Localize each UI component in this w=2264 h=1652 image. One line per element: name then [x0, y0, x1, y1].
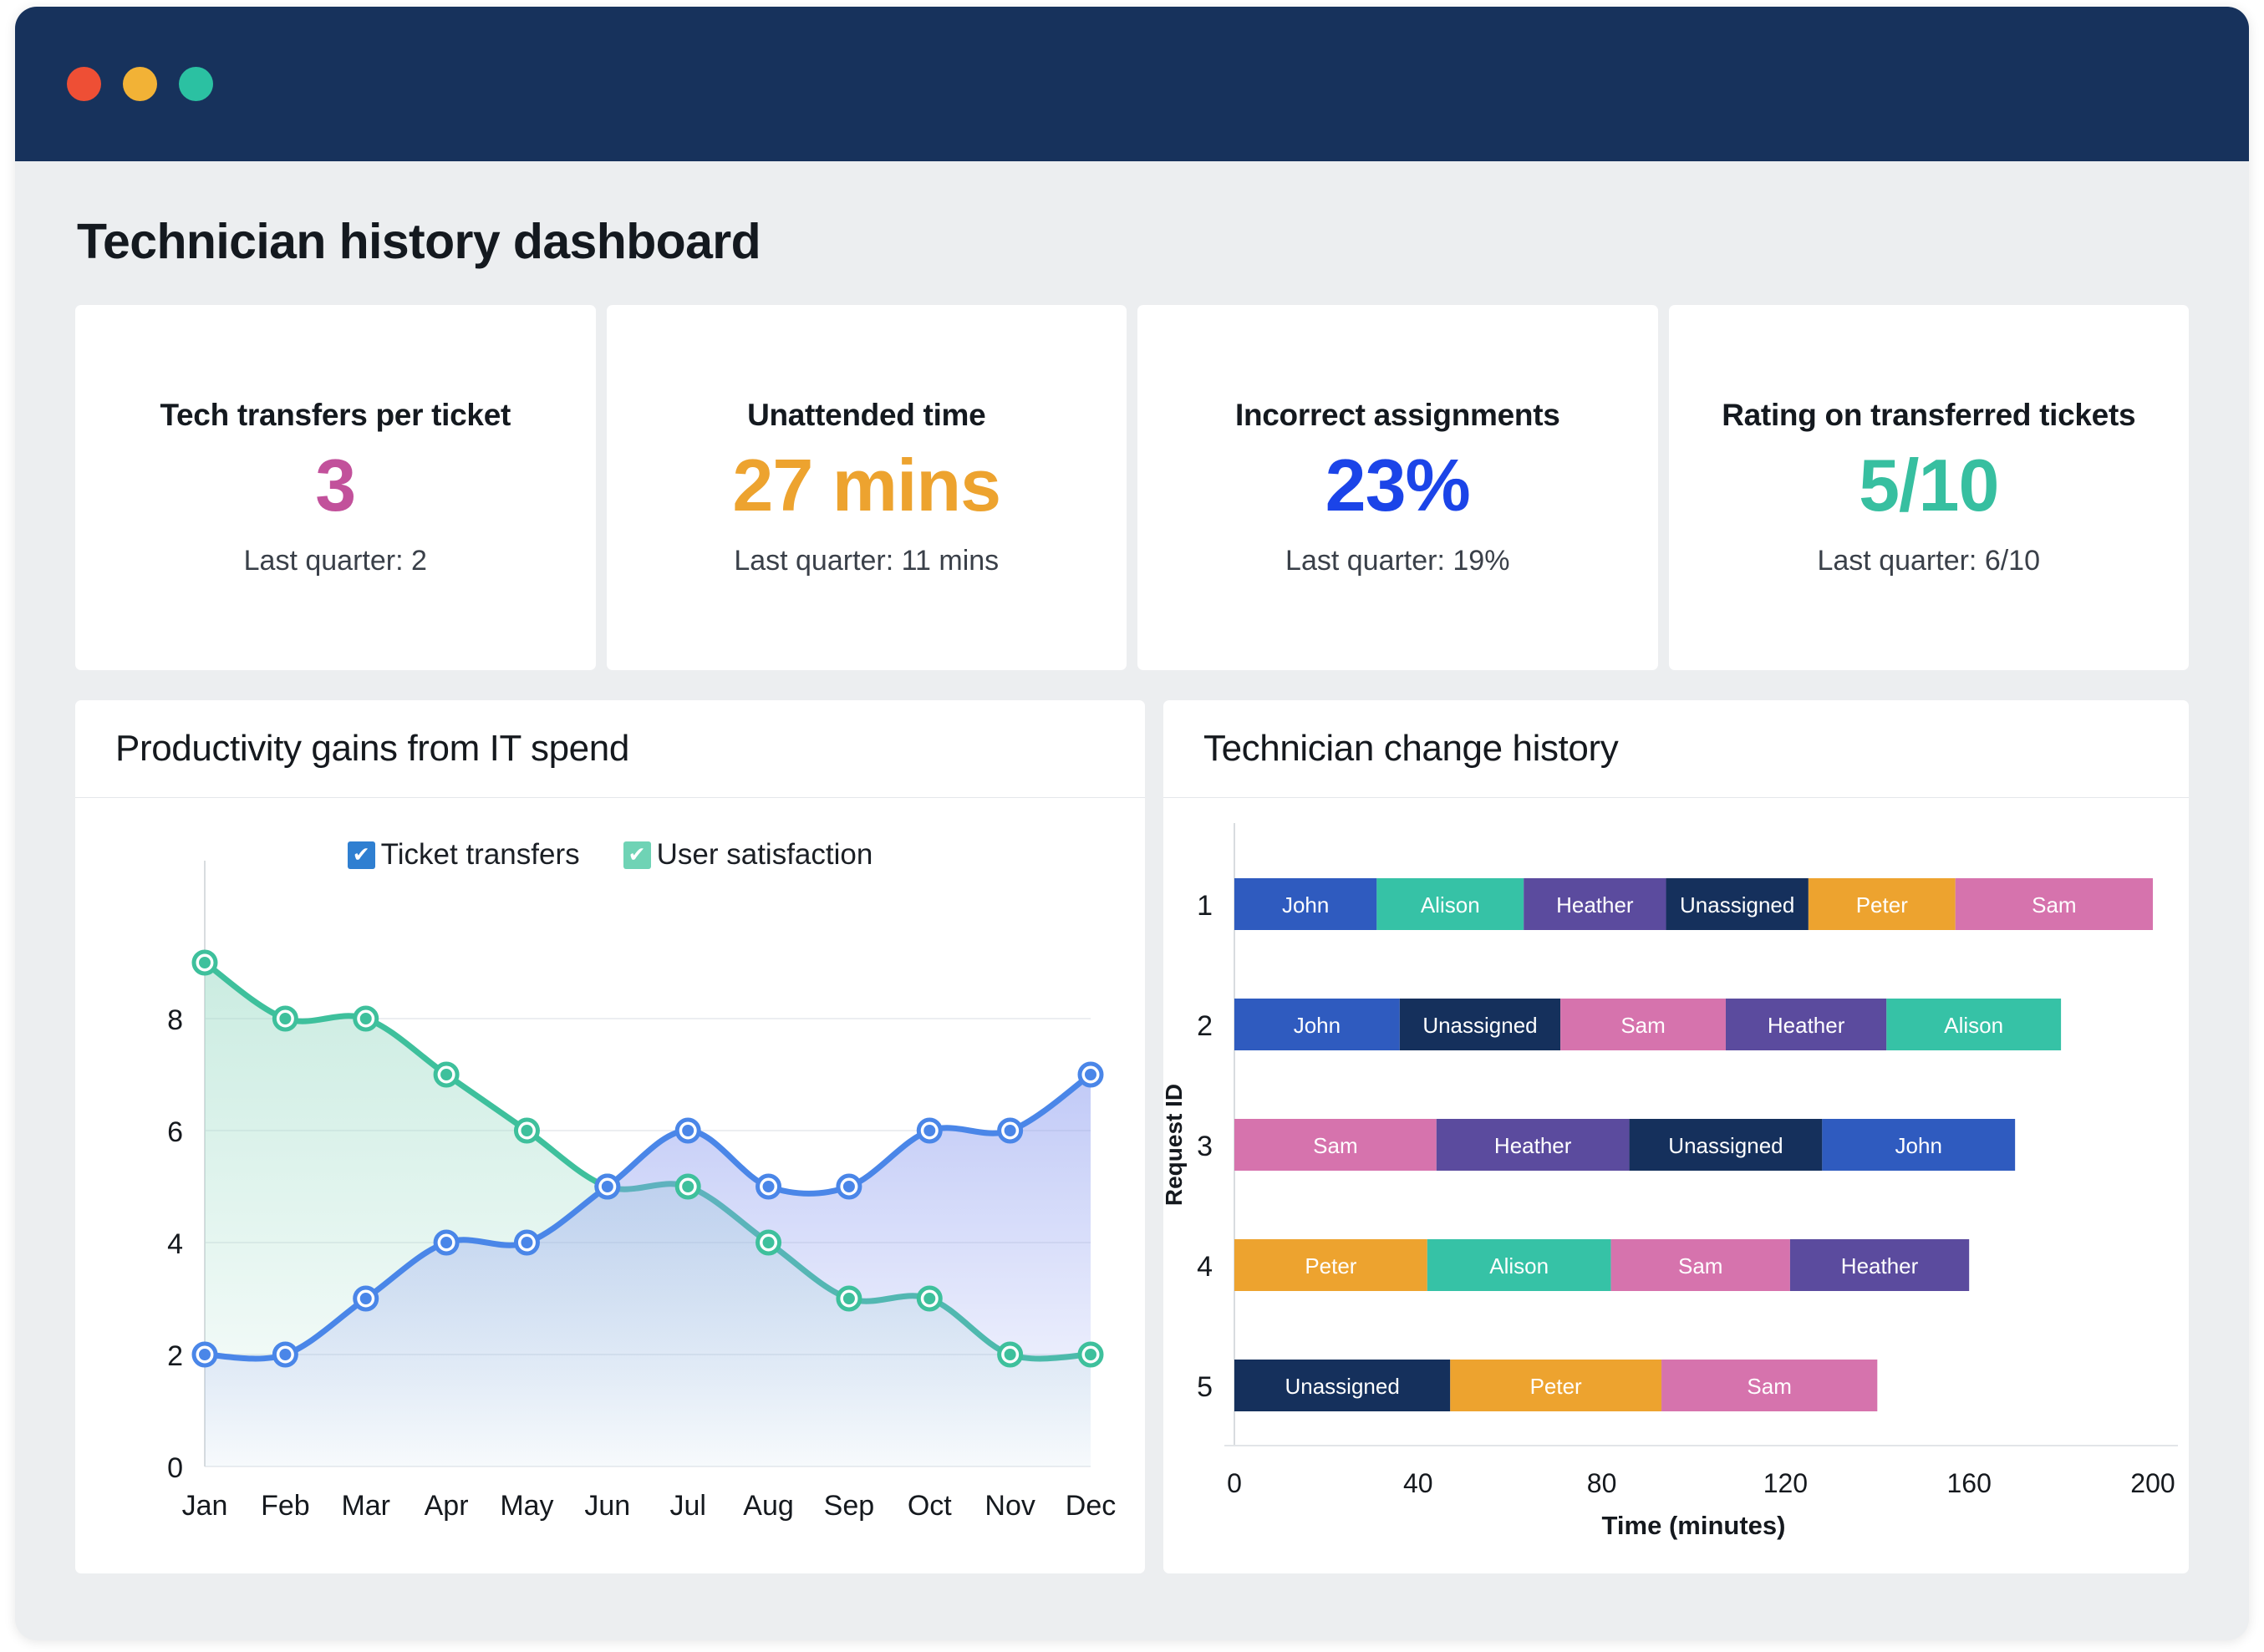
data-point-core [843, 1181, 855, 1192]
gantt-segment-label: John [1294, 1013, 1341, 1038]
data-point-core [521, 1237, 532, 1248]
dashboard-content: Technician history dashboard Tech transf… [15, 161, 2249, 1573]
x-axis-title: Time (minutes) [1602, 1511, 1786, 1540]
maximize-window-button[interactable] [179, 67, 213, 101]
x-axis-tick-label: Jul [669, 1490, 705, 1522]
x-axis-tick-label: Mar [341, 1490, 390, 1522]
kpi-value: 27 mins [732, 445, 1000, 527]
y-axis-tick-label: 5 [1197, 1371, 1213, 1403]
gantt-chart: 1JohnAlisonHeatherUnassignedPeterSam2Joh… [1163, 798, 2189, 1573]
chart-panel-row: Productivity gains from IT spend ✔ Ticke… [75, 700, 2189, 1573]
kpi-subtext: Last quarter: 19% [1285, 545, 1509, 577]
x-axis-tick-label: Dec [1066, 1490, 1116, 1522]
data-point-core [440, 1237, 452, 1248]
x-axis-tick-label: Apr [425, 1490, 469, 1522]
kpi-card-tech-transfers[interactable]: Tech transfers per ticket 3 Last quarter… [75, 305, 596, 670]
data-point-core [923, 1125, 935, 1136]
data-point-core [199, 1349, 211, 1360]
kpi-card-row: Tech transfers per ticket 3 Last quarter… [75, 305, 2189, 670]
x-axis-tick-label: Jun [584, 1490, 630, 1522]
data-point-core [199, 957, 211, 968]
gantt-segment-label: Sam [1747, 1374, 1791, 1399]
y-axis-tick-label: 4 [1197, 1251, 1213, 1283]
x-axis-tick-label: 0 [1227, 1468, 1242, 1498]
data-point-core [1005, 1125, 1016, 1136]
gantt-segment-label: John [1895, 1133, 1942, 1158]
data-point-core [279, 1013, 291, 1024]
panel-header: Technician change history [1163, 700, 2189, 798]
x-axis-tick-label: Feb [261, 1490, 310, 1522]
y-axis-tick-label: 6 [167, 1116, 183, 1148]
kpi-value: 23% [1325, 445, 1470, 527]
x-axis-tick-label: Aug [743, 1490, 794, 1522]
gantt-chart-canvas: 1JohnAlisonHeatherUnassignedPeterSam2Joh… [1163, 798, 2197, 1573]
gantt-segment-label: Heather [1494, 1133, 1572, 1158]
gantt-segment-label: Alison [1944, 1013, 2003, 1038]
x-axis-tick-label: Oct [908, 1490, 952, 1522]
y-axis-tick-label: 0 [167, 1452, 183, 1484]
data-point-core [360, 1293, 372, 1304]
panel-productivity-gains: Productivity gains from IT spend ✔ Ticke… [75, 700, 1145, 1573]
data-point-core [279, 1349, 291, 1360]
y-axis-tick-label: 8 [167, 1004, 183, 1036]
gantt-segment-label: Sam [2032, 892, 2076, 917]
data-point-core [923, 1293, 935, 1304]
gantt-segment-label: Heather [1768, 1013, 1845, 1038]
y-axis-title: Request ID [1163, 1084, 1187, 1206]
data-point-core [1005, 1349, 1016, 1360]
gantt-segment-label: Unassigned [1422, 1013, 1537, 1038]
gantt-segment-label: Sam [1313, 1133, 1357, 1158]
gantt-segment-label: Peter [1856, 892, 1908, 917]
x-axis-tick-label: May [500, 1490, 553, 1522]
data-point-core [682, 1125, 694, 1136]
x-axis-tick-label: 160 [1947, 1468, 1992, 1498]
app-window: Technician history dashboard Tech transf… [15, 7, 2249, 1640]
panel-header: Productivity gains from IT spend [75, 700, 1145, 798]
kpi-title: Unattended time [747, 398, 985, 433]
gantt-segment-label: Heather [1556, 892, 1634, 917]
window-titlebar [15, 7, 2249, 161]
gantt-segment-label: Sam [1678, 1253, 1722, 1278]
data-point-core [763, 1181, 775, 1192]
page-title: Technician history dashboard [75, 161, 2189, 305]
x-axis-tick-label: 40 [1403, 1468, 1433, 1498]
y-axis-tick-label: 2 [1197, 1010, 1213, 1042]
y-axis-tick-label: 1 [1197, 890, 1213, 922]
minimize-window-button[interactable] [123, 67, 157, 101]
kpi-card-rating-transferred-tickets[interactable]: Rating on transferred tickets 5/10 Last … [1669, 305, 2190, 670]
gantt-segment-label: Unassigned [1668, 1133, 1783, 1158]
kpi-card-unattended-time[interactable]: Unattended time 27 mins Last quarter: 11… [607, 305, 1127, 670]
kpi-card-incorrect-assignments[interactable]: Incorrect assignments 23% Last quarter: … [1137, 305, 1658, 670]
gantt-segment-label: Unassigned [1680, 892, 1794, 917]
y-axis-tick-label: 4 [167, 1228, 183, 1260]
kpi-title: Rating on transferred tickets [1722, 398, 2135, 433]
gantt-segment-label: Sam [1620, 1013, 1665, 1038]
close-window-button[interactable] [67, 67, 101, 101]
data-point-core [763, 1237, 775, 1248]
y-axis-tick-label: 2 [167, 1340, 183, 1372]
kpi-subtext: Last quarter: 6/10 [1817, 545, 2040, 577]
kpi-title: Incorrect assignments [1235, 398, 1560, 433]
panel-title: Technician change history [1203, 728, 1618, 770]
data-point-core [360, 1013, 372, 1024]
gantt-segment-label: Peter [1305, 1253, 1356, 1278]
data-point-core [682, 1181, 694, 1192]
x-axis-tick-label: 80 [1587, 1468, 1617, 1498]
y-axis-tick-label: 3 [1197, 1131, 1213, 1162]
kpi-subtext: Last quarter: 11 mins [734, 545, 999, 577]
kpi-subtext: Last quarter: 2 [244, 545, 427, 577]
panel-technician-change-history: Technician change history 1JohnAlisonHea… [1163, 700, 2189, 1573]
gantt-segment-label: Heather [1841, 1253, 1919, 1278]
x-axis-tick-label: Jan [182, 1490, 228, 1522]
data-point-core [1085, 1349, 1096, 1360]
kpi-title: Tech transfers per ticket [160, 398, 511, 433]
x-axis-tick-label: Sep [824, 1490, 875, 1522]
panel-title: Productivity gains from IT spend [115, 728, 629, 770]
x-axis-tick-label: Nov [984, 1490, 1035, 1522]
x-axis-tick-label: 200 [2130, 1468, 2175, 1498]
gantt-segment-label: Peter [1530, 1374, 1582, 1399]
data-point-core [843, 1293, 855, 1304]
kpi-value: 3 [315, 445, 355, 527]
gantt-segment-label: John [1282, 892, 1329, 917]
data-point-core [1085, 1069, 1096, 1080]
line-chart: ✔ Ticket transfers ✔ User satisfaction 0… [75, 798, 1145, 1573]
gantt-segment-label: Unassigned [1285, 1374, 1399, 1399]
line-chart-canvas: 02468JanFebMarAprMayJunJulAugSepOctNovDe… [75, 798, 1145, 1573]
gantt-segment-label: Alison [1421, 892, 1480, 917]
data-point-core [521, 1125, 532, 1136]
x-axis-tick-label: 120 [1763, 1468, 1808, 1498]
kpi-value: 5/10 [1859, 445, 1998, 527]
data-point-core [440, 1069, 452, 1080]
data-point-core [602, 1181, 613, 1192]
gantt-segment-label: Alison [1489, 1253, 1549, 1278]
